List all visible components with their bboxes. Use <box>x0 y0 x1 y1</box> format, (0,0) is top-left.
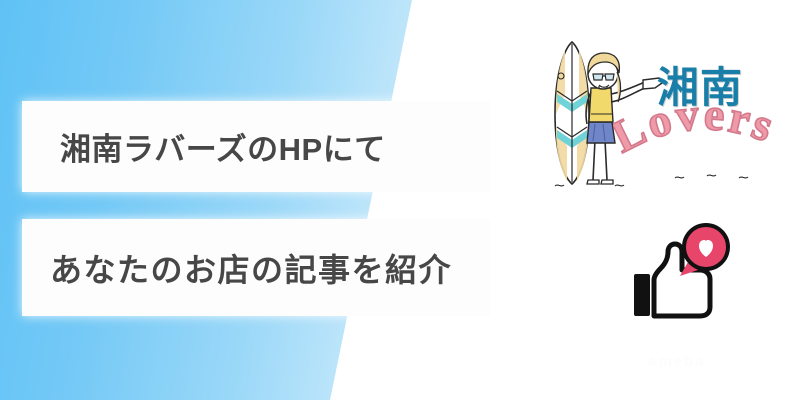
headline-line-2: あなたのお店の記事を紹介 <box>22 245 452 291</box>
headline-band-2: あなたのお店の記事を紹介 <box>22 219 490 316</box>
thumbs-up-icon <box>630 222 740 330</box>
watermark: ameba <box>648 350 778 372</box>
logo-lovers-wordmark: Lovers <box>613 98 797 178</box>
surfboard-icon <box>555 42 589 184</box>
promo-banner: 湘南ラバーズのHPにて あなたのお店の記事を紹介 <box>0 0 800 400</box>
headline-line-1: 湘南ラバーズのHPにて <box>22 124 386 169</box>
logo-lovers-text: Lovers <box>613 98 783 162</box>
shonan-lovers-logo: 湘南 Lovers <box>525 36 797 196</box>
watermark-text: ameba <box>648 353 706 370</box>
svg-text:Lovers: Lovers <box>613 98 783 162</box>
thumb-forearm <box>634 274 650 316</box>
headline-band-1: 湘南ラバーズのHPにて <box>22 101 490 192</box>
blue-angled-background <box>0 0 420 400</box>
like-reaction-graphic <box>630 222 740 330</box>
